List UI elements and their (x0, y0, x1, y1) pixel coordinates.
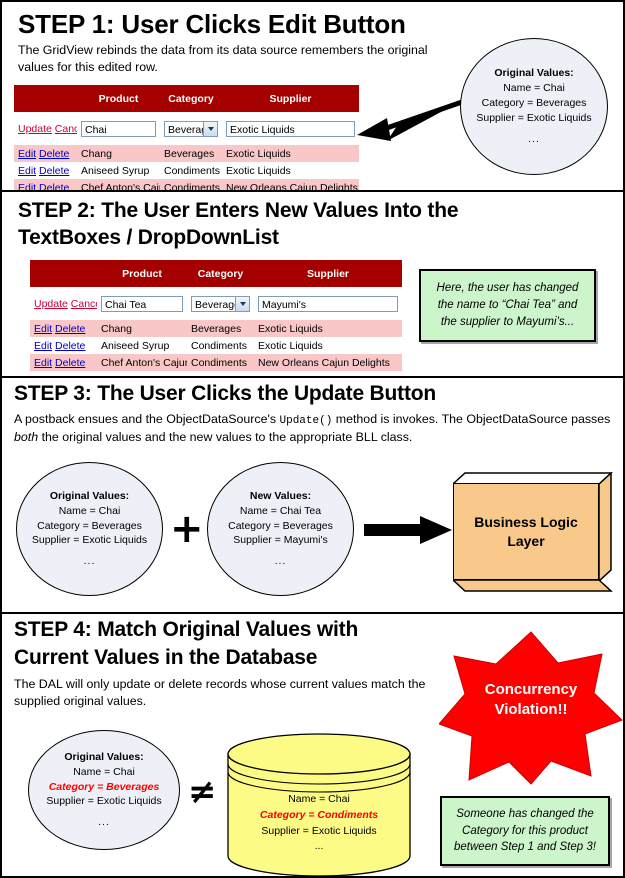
database-cylinder: Name = Chai Category = Condiments Suppli… (226, 732, 412, 878)
step-1-title: STEP 1: User Clicks Edit Button (18, 10, 406, 38)
edit-row-supplier-cell: Mayumi's (254, 287, 402, 320)
category-dropdownlist[interactable]: Beverages (164, 121, 218, 137)
edit-link[interactable]: Edit (18, 148, 36, 160)
bll-label-line-1: Business Logic (474, 514, 577, 530)
gridview-step-2[interactable]: Product Category Supplier Update Cancel … (30, 260, 402, 371)
supplier-textbox[interactable]: Exotic Liquids (226, 121, 355, 137)
bubble-line-3: Supplier = Exotic Liquids (46, 794, 161, 809)
row-commands: Edit Delete (30, 337, 97, 354)
step-3-section: STEP 3: The User Clicks the Update Butto… (2, 378, 625, 614)
edit-link[interactable]: Edit (34, 340, 52, 352)
db-line-2-highlighted: Category = Condiments (226, 808, 412, 824)
bubble-ellipsis: ... (98, 815, 110, 830)
bubble-header: Original Values: (64, 750, 143, 765)
bubble-line-3: Supplier = Exotic Liquids (476, 111, 591, 126)
row-category: Condiments (187, 337, 254, 354)
gridview-header-category: Category (187, 260, 254, 287)
row-commands: Edit Delete (14, 179, 77, 192)
edit-row-commands: Update Cancel (14, 112, 77, 145)
step-4-title-line-1: STEP 4: Match Original Values with (14, 619, 358, 642)
chevron-down-icon[interactable] (235, 297, 249, 311)
bubble-header: Original Values: (50, 489, 129, 504)
callout-step-4-text: Someone has changed the Category for thi… (450, 806, 600, 856)
bubble-line-1: Name = Chai (59, 504, 121, 519)
delete-link[interactable]: Delete (55, 340, 85, 352)
bubble-line-3: Supplier = Mayumi's (233, 533, 328, 548)
edit-row-product-cell: Chai (77, 112, 160, 145)
row-supplier: Exotic Liquids (222, 145, 359, 162)
edit-row-category-cell: Beverages (160, 112, 222, 145)
row-commands: Edit Delete (30, 320, 97, 337)
row-supplier: Exotic Liquids (254, 337, 402, 354)
bll-label-line-2: Layer (507, 533, 544, 549)
callout-step-2-text: Here, the user has changed the name to “… (429, 280, 586, 330)
product-textbox[interactable]: Chai Tea (101, 296, 183, 312)
table-row[interactable]: Edit Delete Chang Beverages Exotic Liqui… (30, 320, 402, 337)
gridview-header-commands (30, 260, 97, 287)
gridview-header-product: Product (77, 85, 160, 112)
row-commands: Edit Delete (14, 145, 77, 162)
step-3-body-part-c: the original values and the new values t… (38, 430, 412, 444)
row-category: Condiments (187, 354, 254, 371)
bubble-line-1: Name = Chai (503, 81, 565, 96)
step-2-section: STEP 2: The User Enters New Values Into … (2, 192, 625, 378)
row-product: Chef Anton's Cajun (77, 179, 160, 192)
bubble-header: New Values: (250, 489, 311, 504)
arrow-to-bll-icon (364, 513, 454, 547)
delete-link[interactable]: Delete (39, 182, 69, 193)
bubble-ellipsis: ... (275, 554, 287, 569)
delete-link[interactable]: Delete (39, 165, 69, 177)
row-product: Chef Anton's Cajun (97, 354, 187, 371)
row-supplier: New Orleans Cajun Delights (254, 354, 402, 371)
table-row[interactable]: Edit Delete Aniseed Syrup Condiments Exo… (14, 162, 359, 179)
table-row[interactable]: Edit Delete Chef Anton's Cajun Condiment… (14, 179, 359, 192)
step-4-section: STEP 4: Match Original Values with Curre… (2, 614, 625, 878)
database-values-text: Name = Chai Category = Condiments Suppli… (226, 792, 412, 855)
original-values-bubble-step4: Original Values: Name = Chai Category = … (28, 730, 180, 850)
gridview-header-row: Product Category Supplier (30, 260, 402, 287)
bubble-line-2: Category = Beverages (228, 519, 333, 534)
step-3-title: STEP 3: The User Clicks the Update Butto… (14, 383, 436, 406)
arrow-to-grid-icon (357, 97, 467, 157)
bubble-line-1: Name = Chai (73, 765, 135, 780)
step-1-body: The GridView rebinds the data from its d… (18, 42, 448, 75)
callout-step-2: Here, the user has changed the name to “… (419, 269, 596, 342)
gridview-header-category: Category (160, 85, 222, 112)
row-supplier: New Orleans Cajun Delights (222, 179, 359, 192)
step-3-body: A postback ensues and the ObjectDataSour… (14, 411, 619, 446)
edit-row-commands: Update Cancel (30, 287, 97, 320)
chevron-down-icon[interactable] (203, 122, 217, 136)
delete-link[interactable]: Delete (55, 357, 85, 369)
gridview-edit-row: Update Cancel Chai Beverages Exotic Liqu… (14, 112, 359, 145)
row-product: Aniseed Syrup (97, 337, 187, 354)
edit-row-supplier-cell: Exotic Liquids (222, 112, 359, 145)
diagram-page: STEP 1: User Clicks Edit Button The Grid… (0, 0, 625, 878)
db-line-1: Name = Chai (226, 792, 412, 808)
new-values-bubble-step3: New Values: Name = Chai Tea Category = B… (207, 462, 354, 596)
bubble-line-2: Category = Beverages (482, 96, 587, 111)
step-1-section: STEP 1: User Clicks Edit Button The Grid… (2, 2, 625, 192)
bubble-line-1: Name = Chai Tea (240, 504, 321, 519)
row-supplier: Exotic Liquids (254, 320, 402, 337)
gridview-header-supplier: Supplier (254, 260, 402, 287)
bubble-header: Original Values: (494, 66, 573, 81)
gridview-header-commands (14, 85, 77, 112)
bubble-line-3: Supplier = Exotic Liquids (32, 533, 147, 548)
bll-box-face: Business Logic Layer (453, 483, 599, 580)
edit-link[interactable]: Edit (18, 165, 36, 177)
edit-row-product-cell: Chai Tea (97, 287, 187, 320)
supplier-textbox[interactable]: Mayumi's (258, 296, 398, 312)
bubble-line-2: Category = Beverages (37, 519, 142, 534)
category-dropdownlist[interactable]: Beverages (191, 296, 250, 312)
step-4-body: The DAL will only update or delete recor… (14, 676, 444, 709)
row-category: Condiments (160, 179, 222, 192)
row-category: Beverages (187, 320, 254, 337)
concurrency-violation-starburst: Concurrency Violation!! (439, 630, 623, 786)
callout-step-4: Someone has changed the Category for thi… (440, 796, 610, 866)
row-commands: Edit Delete (30, 354, 97, 371)
original-values-bubble-step1: Original Values: Name = Chai Category = … (460, 38, 608, 175)
update-link[interactable]: Update (34, 298, 68, 310)
step-2-title-line-2: TextBoxes / DropDownList (18, 227, 279, 250)
step-3-body-emphasis: both (14, 430, 38, 444)
table-row[interactable]: Edit Delete Chef Anton's Cajun Condiment… (30, 354, 402, 371)
update-link[interactable]: Update (18, 123, 52, 135)
cancel-link[interactable]: Cancel (55, 123, 77, 135)
db-ellipsis: ... (226, 839, 412, 855)
original-values-bubble-step3: Original Values: Name = Chai Category = … (16, 462, 163, 596)
row-product: Chang (77, 145, 160, 162)
cancel-link[interactable]: Cancel (71, 298, 97, 310)
bubble-line-2-highlighted: Category = Beverages (49, 780, 160, 795)
row-supplier: Exotic Liquids (222, 162, 359, 179)
row-commands: Edit Delete (14, 162, 77, 179)
row-category: Condiments (160, 162, 222, 179)
gridview-header-supplier: Supplier (222, 85, 359, 112)
db-line-3: Supplier = Exotic Liquids (226, 824, 412, 840)
gridview-edit-row: Update Cancel Chai Tea Beverages Mayumi'… (30, 287, 402, 320)
row-category: Beverages (160, 145, 222, 162)
plus-symbol: + (170, 509, 204, 549)
edit-link[interactable]: Edit (34, 323, 52, 335)
starburst-icon (439, 630, 623, 786)
bubble-ellipsis: ... (84, 554, 96, 569)
step-2-title-line-1: STEP 2: The User Enters New Values Into … (18, 200, 458, 223)
product-textbox[interactable]: Chai (81, 121, 156, 137)
not-equal-symbol: ≠ (188, 772, 217, 812)
edit-row-category-cell: Beverages (187, 287, 254, 320)
row-product: Chang (97, 320, 187, 337)
bubble-ellipsis: ... (528, 132, 540, 147)
row-product: Aniseed Syrup (77, 162, 160, 179)
edit-link[interactable]: Edit (34, 357, 52, 369)
gridview-header-row: Product Category Supplier (14, 85, 359, 112)
edit-link[interactable]: Edit (18, 182, 36, 193)
gridview-header-product: Product (97, 260, 187, 287)
table-row[interactable]: Edit Delete Aniseed Syrup Condiments Exo… (30, 337, 402, 354)
delete-link[interactable]: Delete (55, 323, 85, 335)
delete-link[interactable]: Delete (39, 148, 69, 160)
gridview-step-1[interactable]: Product Category Supplier Update Cancel … (14, 85, 359, 192)
business-logic-layer-box: Business Logic Layer (453, 472, 615, 592)
update-method-code: Update() (280, 415, 333, 427)
step-4-title-line-2: Current Values in the Database (14, 647, 317, 670)
table-row[interactable]: Edit Delete Chang Beverages Exotic Liqui… (14, 145, 359, 162)
step-3-body-part-b: method is invokes. The ObjectDataSource … (332, 412, 610, 426)
step-3-body-part-a: A postback ensues and the ObjectDataSour… (14, 412, 280, 426)
